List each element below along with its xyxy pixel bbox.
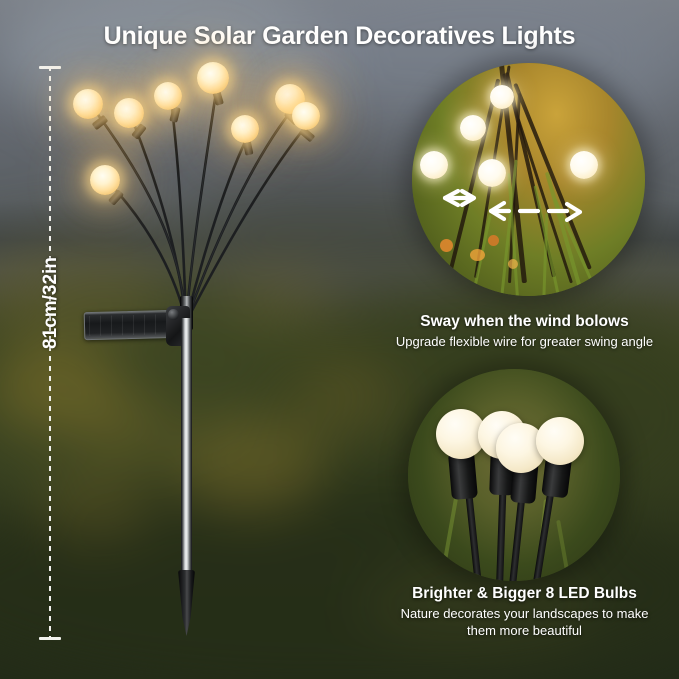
metal-pole (181, 318, 192, 580)
sway-caption: Sway when the wind bolows Upgrade flexib… (370, 313, 679, 351)
bracket-knob (168, 309, 179, 320)
led-bulbs-caption: Brighter & Bigger 8 LED Bulbs Nature dec… (370, 585, 679, 639)
led-bulb-closeup (536, 417, 584, 465)
led-bulb (90, 165, 120, 195)
sway-caption-heading: Sway when the wind bolows (370, 313, 679, 331)
bulb-socket (448, 452, 478, 500)
led-bulbs-photo-inset (408, 369, 620, 581)
led-bulbs-caption-subtitle: Nature decorates your landscapes to make… (370, 606, 679, 639)
solar-garden-stake-light (0, 0, 380, 679)
led-bulb (231, 115, 259, 143)
double-headed-sway-arrows (412, 63, 645, 296)
led-bulb (154, 82, 182, 110)
led-bulbs-photo (408, 369, 620, 581)
led-bulb (292, 102, 320, 130)
sway-photo-inset (412, 63, 645, 296)
led-bulbs-caption-heading: Brighter & Bigger 8 LED Bulbs (370, 585, 679, 603)
led-bulb (114, 98, 144, 128)
led-bulb (197, 62, 229, 94)
infographic-canvas: Unique Solar Garden Decoratives Lights 8… (0, 0, 679, 679)
led-bulb (73, 89, 103, 119)
solar-panel (84, 310, 179, 340)
sway-caption-subtitle: Upgrade flexible wire for greater swing … (370, 334, 679, 351)
